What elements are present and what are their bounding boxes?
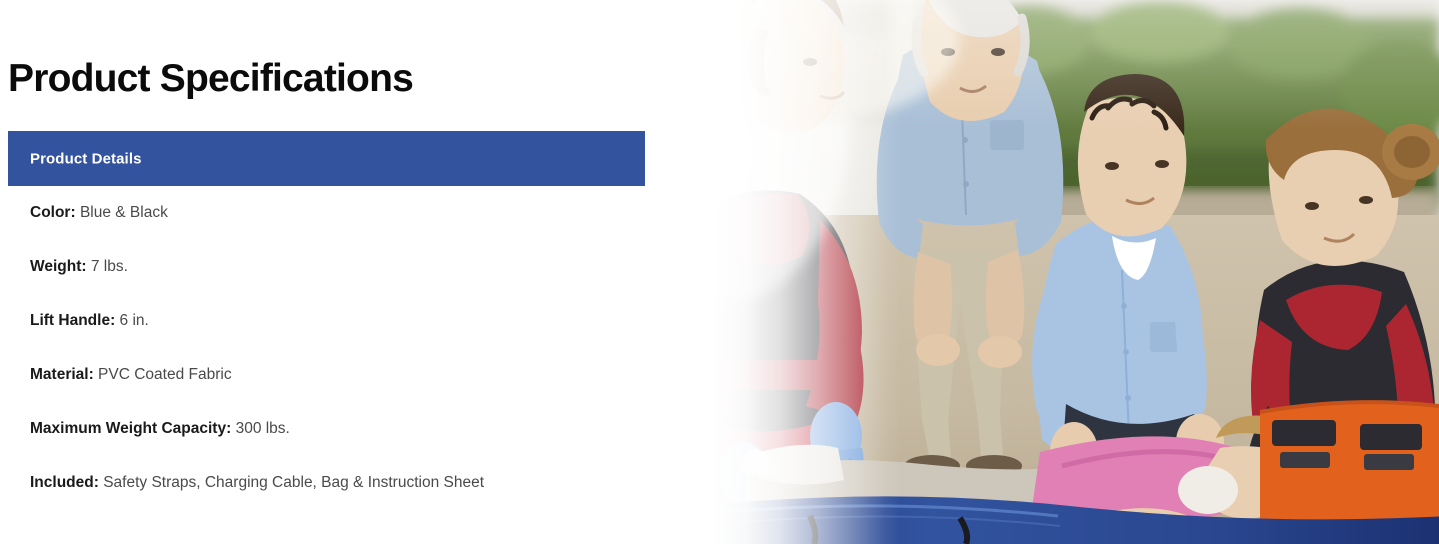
first-aid-scene-photo <box>660 0 1439 544</box>
spec-value: 6 in. <box>115 312 149 329</box>
spec-row-maximum-weight-capacity: Maximum Weight Capacity: 300 lbs. <box>30 420 690 474</box>
spec-value: PVC Coated Fabric <box>94 366 232 383</box>
spec-value: Blue & Black <box>76 204 168 221</box>
spec-value: Safety Straps, Charging Cable, Bag & Ins… <box>99 474 484 491</box>
product-details-header-label: Product Details <box>30 150 142 167</box>
spine-board <box>1260 402 1439 529</box>
photo-illustration <box>660 0 1439 544</box>
product-details-header: Product Details <box>8 131 645 186</box>
spec-row-lift-handle: Lift Handle: 6 in. <box>30 312 690 366</box>
product-specifications-page: Product Specifications Product Details C… <box>0 0 1439 544</box>
spec-label: Weight: <box>30 258 87 275</box>
spec-row-material: Material: PVC Coated Fabric <box>30 366 690 420</box>
specifications-panel: Product Specifications Product Details C… <box>0 0 700 544</box>
spec-label: Maximum Weight Capacity: <box>30 420 231 437</box>
specification-list: Color: Blue & Black Weight: 7 lbs. Lift … <box>30 204 690 528</box>
spec-value: 7 lbs. <box>87 258 128 275</box>
spec-value: 300 lbs. <box>231 420 290 437</box>
page-title: Product Specifications <box>8 57 413 102</box>
spec-row-color: Color: Blue & Black <box>30 204 690 258</box>
spec-row-weight: Weight: 7 lbs. <box>30 258 690 312</box>
spec-label: Material: <box>30 366 94 383</box>
spec-row-included: Included: Safety Straps, Charging Cable,… <box>30 474 690 528</box>
spec-label: Color: <box>30 204 76 221</box>
spec-label: Lift Handle: <box>30 312 115 329</box>
spec-label: Included: <box>30 474 99 491</box>
